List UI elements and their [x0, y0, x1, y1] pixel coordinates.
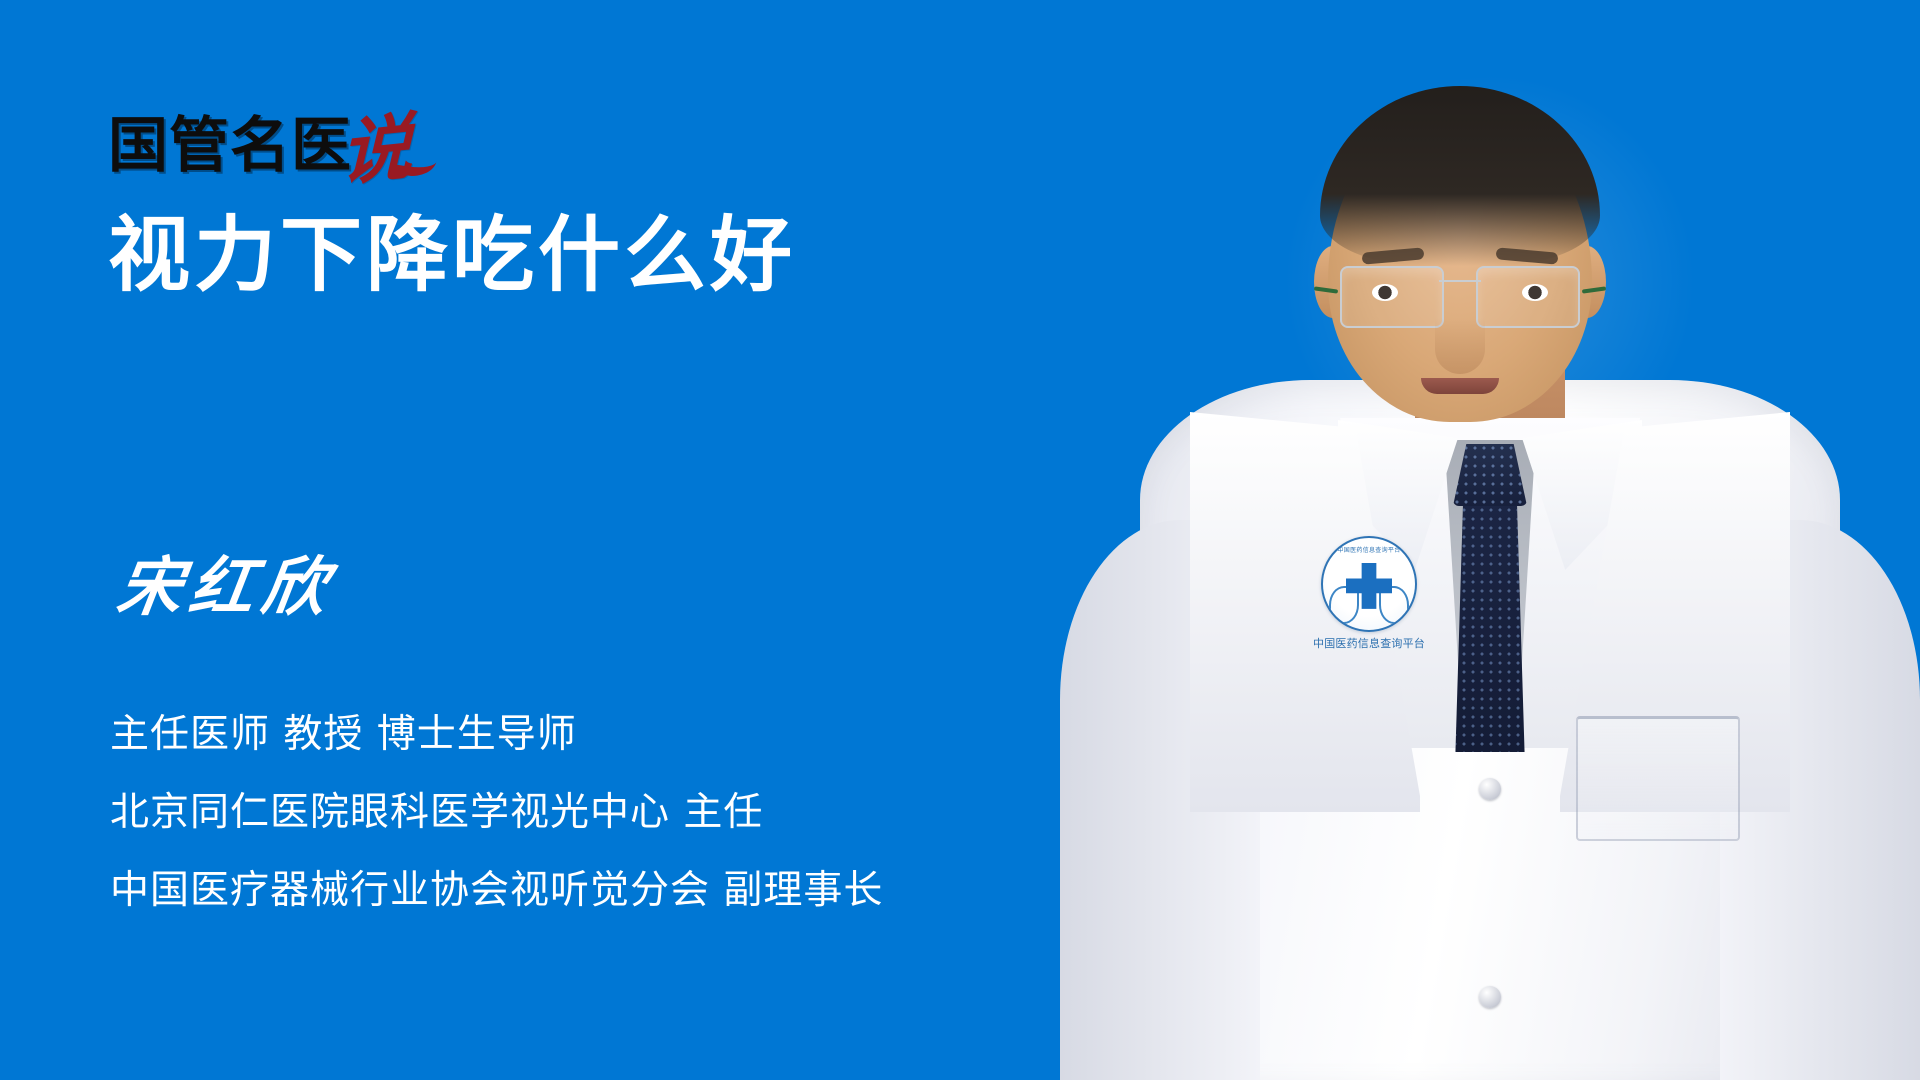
coat-button [1479, 986, 1501, 1008]
speaker-name: 宋红欣 [113, 552, 339, 624]
credential-line: 中国医疗器械行业协会视听觉分会 副理事长 [110, 868, 883, 914]
speaker-portrait: 中国医药信息查询平台 中国医药信息查询平台 [1060, 0, 1920, 1080]
program-logo: 国管名医 说 [108, 86, 412, 176]
credential-line: 主任医师 教授 博士生导师 [110, 712, 883, 758]
eyeglass-lens-left [1340, 266, 1444, 328]
coat-badge: 中国医药信息查询平台 中国医药信息查询平台 [1310, 536, 1428, 650]
credential-line: 北京同仁医院眼科医学视光中心 主任 [110, 790, 883, 836]
slide-title: 视力下降吃什么好 [108, 208, 796, 304]
mouth [1421, 378, 1499, 394]
coat-button [1479, 778, 1501, 800]
eyeglass-lens-right [1476, 266, 1580, 328]
program-logo-main-text: 国管名医 [108, 116, 352, 176]
coat-badge-caption: 中国医药信息查询平台 [1310, 637, 1428, 650]
slide-canvas: 国管名医 说 视力下降吃什么好 宋红欣 主任医师 教授 博士生导师 北京同仁医院… [0, 0, 1920, 1080]
badge-ring-text: 中国医药信息查询平台 [1337, 545, 1400, 554]
coat-pocket [1576, 716, 1740, 841]
nose [1435, 318, 1485, 374]
hair [1320, 86, 1600, 266]
eyeglass-bridge [1439, 280, 1481, 282]
head [1310, 78, 1610, 428]
medical-platform-emblem-icon: 中国医药信息查询平台 [1321, 536, 1417, 632]
speaker-credentials: 主任医师 教授 博士生导师 北京同仁医院眼科医学视光中心 主任 中国医疗器械行业… [110, 712, 883, 914]
program-logo-accent-text: 说 [340, 114, 412, 186]
